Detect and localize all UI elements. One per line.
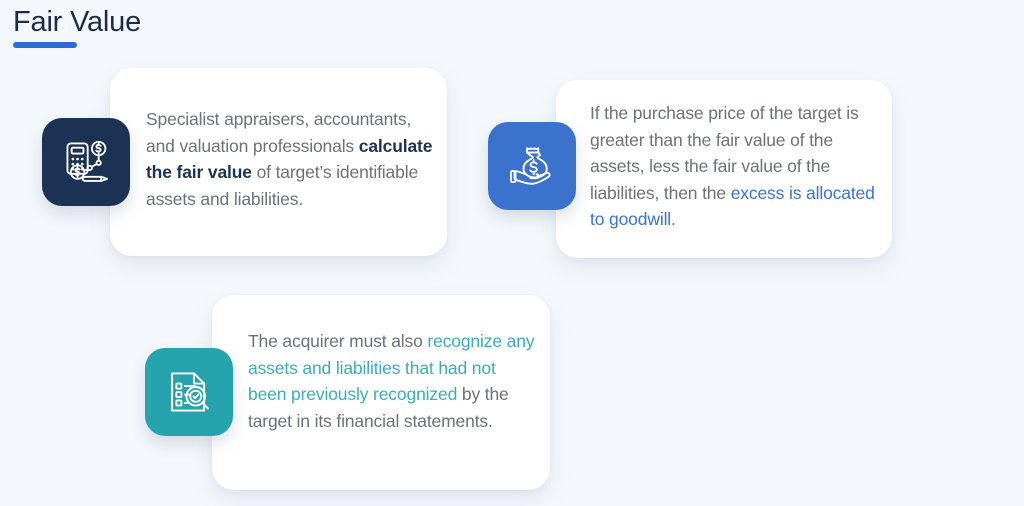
calculator-dollar-pencil-icon <box>42 118 130 206</box>
document-checklist-magnifier-icon <box>145 348 233 436</box>
title-underline-accent <box>13 42 77 48</box>
card-3-segment-0: The acquirer must also <box>248 331 427 351</box>
page-title: Fair Value <box>13 5 141 39</box>
card-1-body-text: Specialist appraisers, accountants, and … <box>146 106 436 212</box>
card-2-body-text: If the purchase price of the target is g… <box>590 100 882 233</box>
card-3-body-text: The acquirer must also recognize any ass… <box>248 328 536 434</box>
slide-canvas: Fair Value <box>0 0 1024 506</box>
money-bag-in-hand-icon <box>488 122 576 210</box>
